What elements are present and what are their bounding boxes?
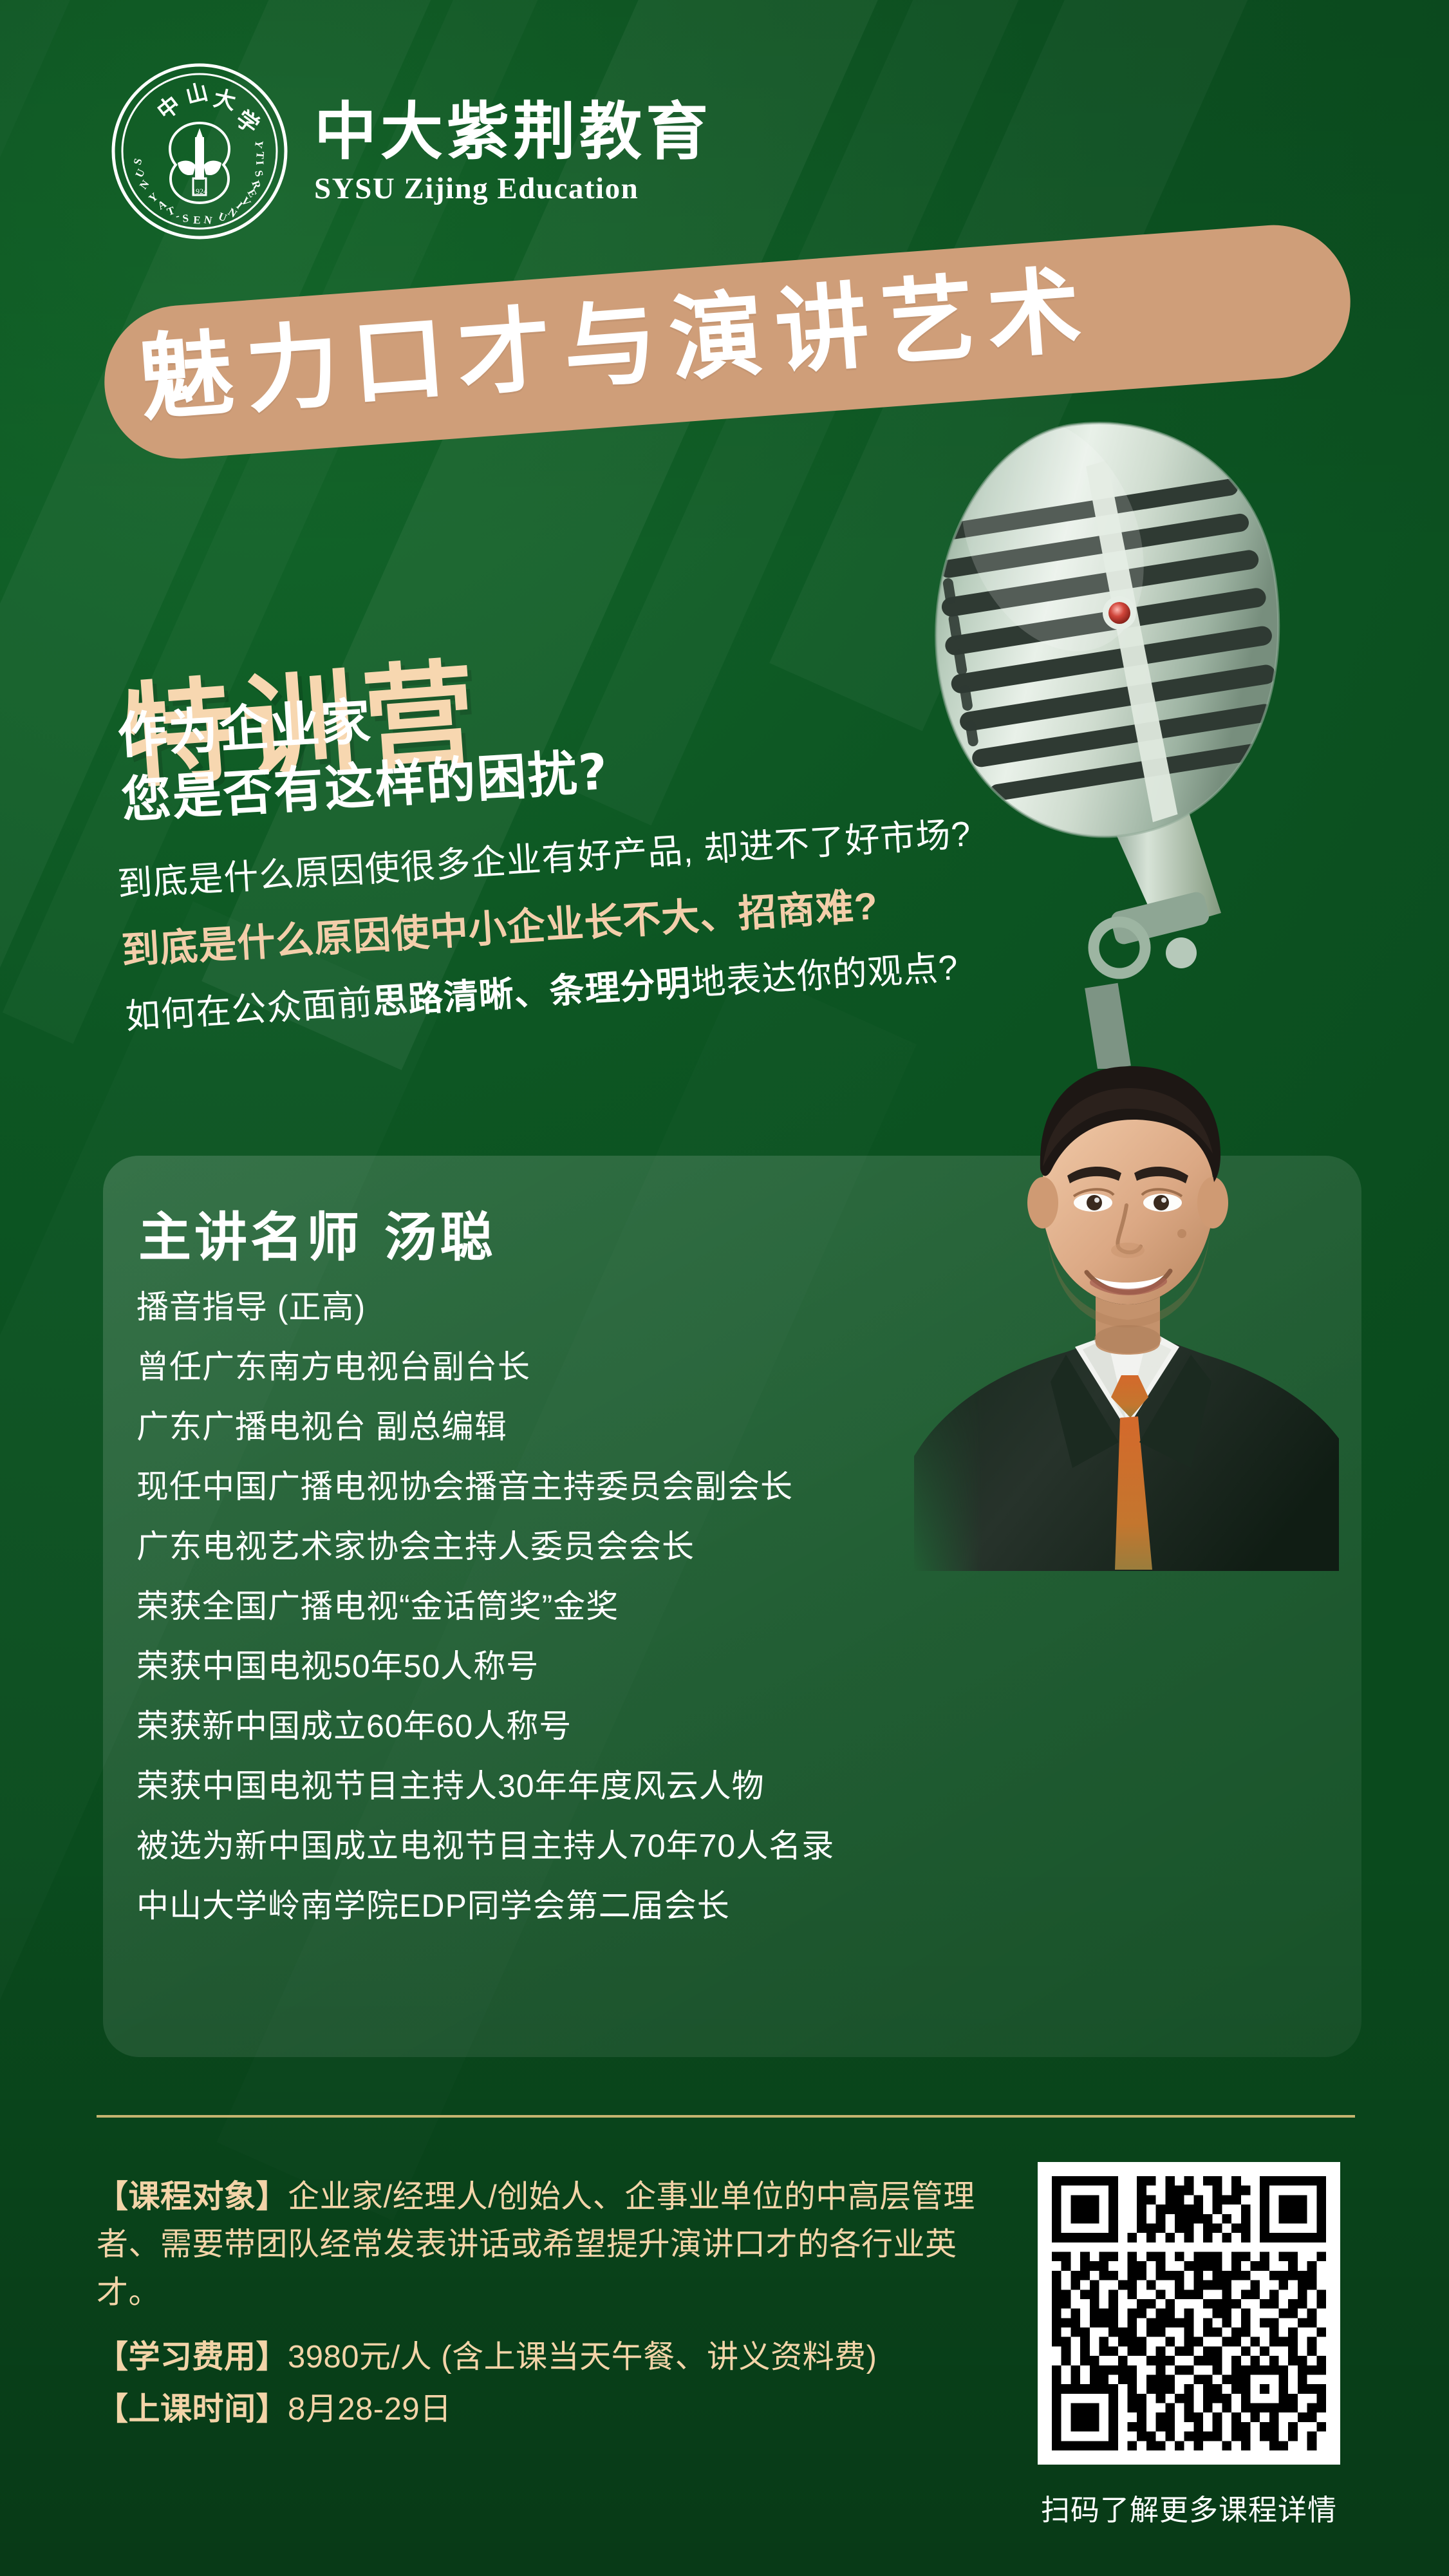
- seal-year-text: 1924: [192, 187, 207, 196]
- pain-q3-bold: 思路清晰、条理分明: [371, 964, 692, 1022]
- course-details: 【课程对象】企业家/经理人/创始人、企事业单位的中高层管理者、需要带团队经常发表…: [97, 2173, 985, 2437]
- qr-code-icon: [1052, 2176, 1326, 2450]
- svg-text:N: N: [203, 213, 213, 227]
- credential-item: 播音指导 (正高): [136, 1291, 1166, 1323]
- svg-text:E: E: [193, 214, 201, 227]
- course-time-value: 8月28-29日: [288, 2392, 452, 2427]
- credential-item: 中山大学岭南学院EDP同学会第二届会长: [136, 1890, 1166, 1922]
- gold-divider: [97, 2115, 1355, 2118]
- svg-text:I: I: [254, 160, 266, 165]
- qr-code-caption: 扫码了解更多课程详情: [1038, 2487, 1340, 2528]
- svg-text:-: -: [174, 209, 181, 222]
- course-audience-label: 【课程对象】: [97, 2179, 288, 2214]
- svg-text:Y: Y: [252, 139, 266, 149]
- credential-item: 荣获中国电视50年50人称号: [136, 1650, 1166, 1682]
- credential-item: 广东广播电视台 副总编辑: [136, 1411, 1166, 1443]
- course-fee-line: 【学习费用】3980元/人 (含上课当天午餐、讲义资料费): [97, 2333, 985, 2381]
- promo-poster: 中 山 大 学 S U N Y A T - S E N U N I V: [0, 0, 1449, 2576]
- svg-text:学: 学: [231, 106, 264, 139]
- svg-text:山: 山: [183, 79, 211, 109]
- poster-title-block: 魅力口才与演讲艺术 特训营: [0, 251, 1449, 612]
- course-fee-value: 3980元/人 (含上课当天午餐、讲义资料费): [288, 2340, 877, 2374]
- instructor-credential-list: 播音指导 (正高) 曾任广东南方电视台副台长 广东广播电视台 副总编辑 现任中国…: [136, 1291, 1166, 1950]
- svg-text:U: U: [133, 167, 147, 179]
- credential-item: 被选为新中国成立电视节目主持人70年70人名录: [136, 1830, 1166, 1862]
- credential-item: 荣获中国电视节目主持人30年年度风云人物: [136, 1770, 1166, 1802]
- svg-text:N: N: [137, 178, 152, 192]
- credential-item: 荣获新中国成立60年60人称号: [136, 1710, 1166, 1742]
- svg-text:S: S: [131, 157, 145, 166]
- qr-code[interactable]: [1038, 2162, 1340, 2465]
- course-fee-label: 【学习费用】: [97, 2340, 288, 2374]
- credential-item: 荣获全国广播电视“金话筒奖”金奖: [136, 1590, 1166, 1622]
- svg-text:S: S: [252, 169, 266, 178]
- brand-header: 中 山 大 学 S U N Y A T - S E N U N I V: [109, 61, 712, 241]
- pain-q3-prefix: 如何在公众面前: [124, 983, 374, 1037]
- instructor-section-title: 主讲名师 汤聪: [138, 1194, 496, 1271]
- credential-item: 曾任广东南方电视台副台长: [136, 1351, 1166, 1383]
- pain-q3-suffix: 地表达你的观点?: [690, 948, 960, 1003]
- course-time-line: 【上课时间】8月28-29日: [97, 2385, 985, 2433]
- brand-name-cn: 中大紫荆教育: [314, 100, 712, 164]
- brand-name-en: SYSU Zijing Education: [314, 171, 712, 206]
- svg-text:T: T: [254, 151, 266, 160]
- svg-text:U: U: [217, 210, 229, 224]
- svg-text:中: 中: [153, 91, 185, 125]
- course-audience-line: 【课程对象】企业家/经理人/创始人、企事业单位的中高层管理者、需要带团队经常发表…: [97, 2173, 985, 2317]
- credential-item: 广东电视艺术家协会主持人委员会会长: [136, 1530, 1166, 1563]
- pain-point-section: 作为企业家 您是否有这样的困扰? 到底是什么原因使很多企业有好产品, 却进不了好…: [116, 705, 1326, 1053]
- credential-item: 现任中国广播电视协会播音主持委员会副会长: [136, 1471, 1166, 1503]
- sysu-university-seal-icon: 中 山 大 学 S U N Y A T - S E N U N I V: [109, 61, 290, 241]
- svg-text:大: 大: [211, 86, 238, 115]
- course-time-label: 【上课时间】: [97, 2392, 288, 2427]
- svg-text:S: S: [182, 212, 189, 225]
